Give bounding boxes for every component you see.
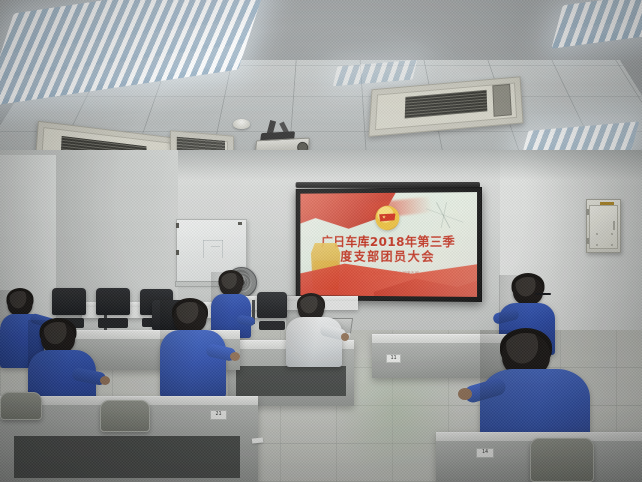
- slide-title-line1: 广日车库2018年第三季: [321, 234, 455, 249]
- chair-empty-2[interactable]: [96, 288, 130, 328]
- chair-grey-2[interactable]: [100, 400, 148, 430]
- electrical-distribution-panel: [586, 199, 621, 253]
- fluorescent-grille-light-2: [551, 0, 642, 49]
- chair-empty-4[interactable]: [257, 292, 287, 330]
- chair-grey-1[interactable]: [0, 392, 40, 418]
- person-blue-center-left: [160, 300, 226, 398]
- slide-branch-graphic: [426, 202, 463, 228]
- communist-youth-league-emblem-icon: [375, 206, 399, 231]
- presentation-slide: 广日车库2018年第三季 度支部团员大会 广州广日集团股份有限公司团支部 201…: [300, 192, 477, 297]
- desk-number-label-mid-right: 11: [386, 354, 401, 363]
- projection-screen: 广日车库2018年第三季 度支部团员大会 广州广日集团股份有限公司团支部 201…: [296, 187, 482, 302]
- desk-number-label-front-right: 14: [476, 448, 494, 458]
- smoke-detector-icon: [233, 119, 250, 129]
- person-white-shirt: [286, 295, 342, 367]
- chair-grey-3[interactable]: [530, 438, 592, 480]
- desk-number-label-front-left: 21: [210, 410, 227, 420]
- meeting-room-screenshot: 广日车库2018年第三季 度支部团员大会 广州广日集团股份有限公司团支部 201…: [0, 0, 642, 482]
- wall-top-shadow: [178, 150, 642, 180]
